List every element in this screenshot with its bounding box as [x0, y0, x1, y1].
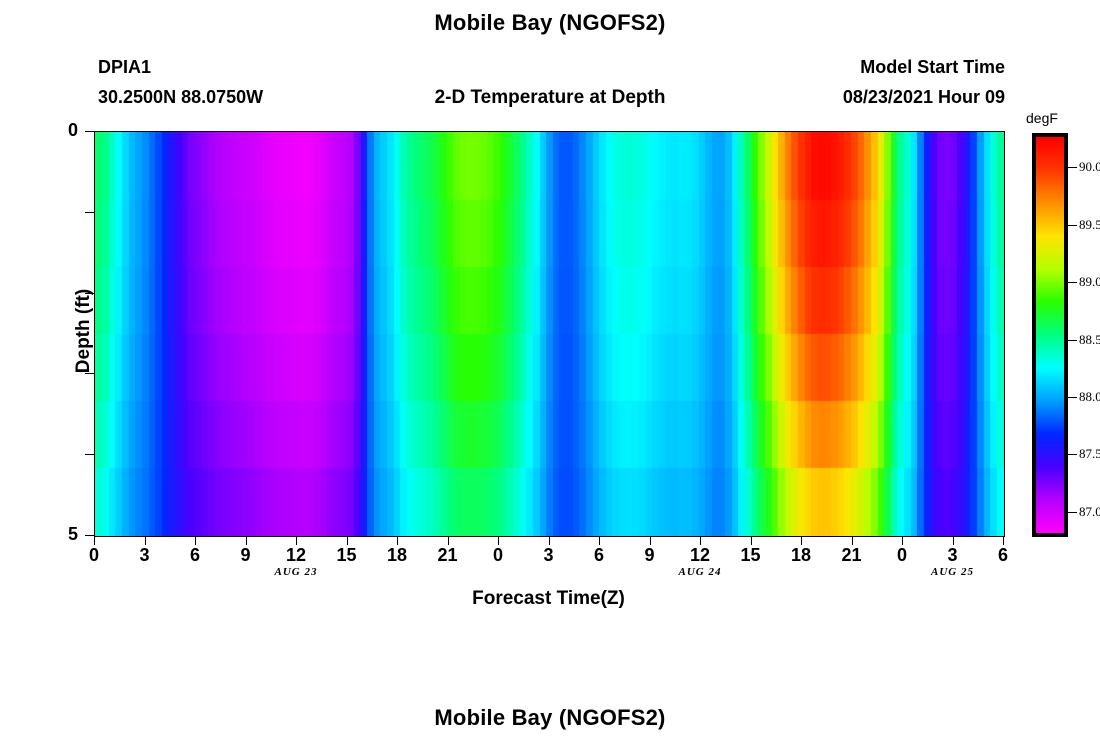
colorbar-tick-mark: [1068, 512, 1077, 513]
colorbar-unit-label: degF: [1026, 110, 1058, 126]
x-tick-label: 9: [226, 545, 266, 566]
page-title: Mobile Bay (NGOFS2): [0, 10, 1100, 36]
colorbar-tick-label: 87.000: [1079, 504, 1100, 520]
x-tick-mark: [448, 536, 449, 545]
x-tick-label: 12: [680, 545, 720, 566]
x-tick-label: 3: [933, 545, 973, 566]
colorbar-tick-mark: [1068, 167, 1077, 168]
x-tick-label: 12: [276, 545, 316, 566]
model-start-time-label: Model Start Time: [860, 57, 1005, 78]
x-tick-mark: [751, 536, 752, 545]
model-start-time-value: 08/23/2021 Hour 09: [843, 87, 1005, 108]
colorbar-tick-label: 87.500: [1079, 446, 1100, 462]
x-tick-mark: [801, 536, 802, 545]
colorbar-tick-mark: [1068, 340, 1077, 341]
y-tick-mark: [85, 535, 94, 536]
x-tick-label: 0: [882, 545, 922, 566]
y-axis-title: Depth (ft): [73, 231, 95, 431]
x-tick-label: 6: [175, 545, 215, 566]
y-tick-mark: [85, 212, 94, 213]
station-id: DPIA1: [98, 57, 151, 78]
y-tick-mark: [85, 454, 94, 455]
colorbar-tick-mark: [1068, 454, 1077, 455]
x-tick-label: 0: [478, 545, 518, 566]
x-tick-mark: [347, 536, 348, 545]
x-tick-mark: [296, 536, 297, 545]
colorbar-tick-label: 89.000: [1079, 274, 1100, 290]
x-tick-label: 3: [529, 545, 569, 566]
colorbar-tick-label: 88.500: [1079, 332, 1100, 348]
colorbar-tick-mark: [1068, 225, 1077, 226]
x-date-label: AUG 24: [655, 566, 745, 578]
y-tick-mark: [85, 131, 94, 132]
colorbar-tick-mark: [1068, 397, 1077, 398]
x-tick-mark: [902, 536, 903, 545]
x-date-label: AUG 23: [251, 566, 341, 578]
y-tick-label: 0: [48, 120, 78, 141]
x-tick-mark: [953, 536, 954, 545]
colorbar-tick-label: 88.000: [1079, 389, 1100, 405]
x-tick-mark: [195, 536, 196, 545]
x-tick-label: 15: [327, 545, 367, 566]
x-tick-label: 9: [630, 545, 670, 566]
x-tick-mark: [94, 536, 95, 545]
heatmap-plot-area: [94, 131, 1005, 537]
x-tick-label: 6: [983, 545, 1023, 566]
x-tick-mark: [650, 536, 651, 545]
colorbar-canvas: [1036, 137, 1064, 533]
bottom-title: Mobile Bay (NGOFS2): [0, 705, 1100, 731]
x-tick-label: 21: [832, 545, 872, 566]
x-axis-title: Forecast Time(Z): [94, 588, 1003, 610]
x-tick-mark: [498, 536, 499, 545]
x-date-label: AUG 25: [908, 566, 998, 578]
heatmap-canvas: [95, 132, 1004, 536]
x-tick-label: 18: [781, 545, 821, 566]
x-tick-label: 18: [377, 545, 417, 566]
colorbar-tick-label: 90.000: [1079, 159, 1100, 175]
x-tick-mark: [549, 536, 550, 545]
x-tick-mark: [397, 536, 398, 545]
x-tick-mark: [599, 536, 600, 545]
x-tick-label: 0: [74, 545, 114, 566]
y-tick-label: 5: [48, 524, 78, 545]
y-tick-mark: [85, 373, 94, 374]
x-tick-mark: [246, 536, 247, 545]
x-tick-mark: [852, 536, 853, 545]
x-tick-mark: [145, 536, 146, 545]
x-tick-mark: [700, 536, 701, 545]
x-tick-label: 6: [579, 545, 619, 566]
y-tick-mark: [85, 293, 94, 294]
x-tick-label: 15: [731, 545, 771, 566]
x-tick-mark: [1003, 536, 1004, 545]
colorbar-tick-mark: [1068, 282, 1077, 283]
colorbar-tick-label: 89.500: [1079, 217, 1100, 233]
colorbar: [1032, 133, 1068, 537]
x-tick-label: 21: [428, 545, 468, 566]
x-tick-label: 3: [125, 545, 165, 566]
